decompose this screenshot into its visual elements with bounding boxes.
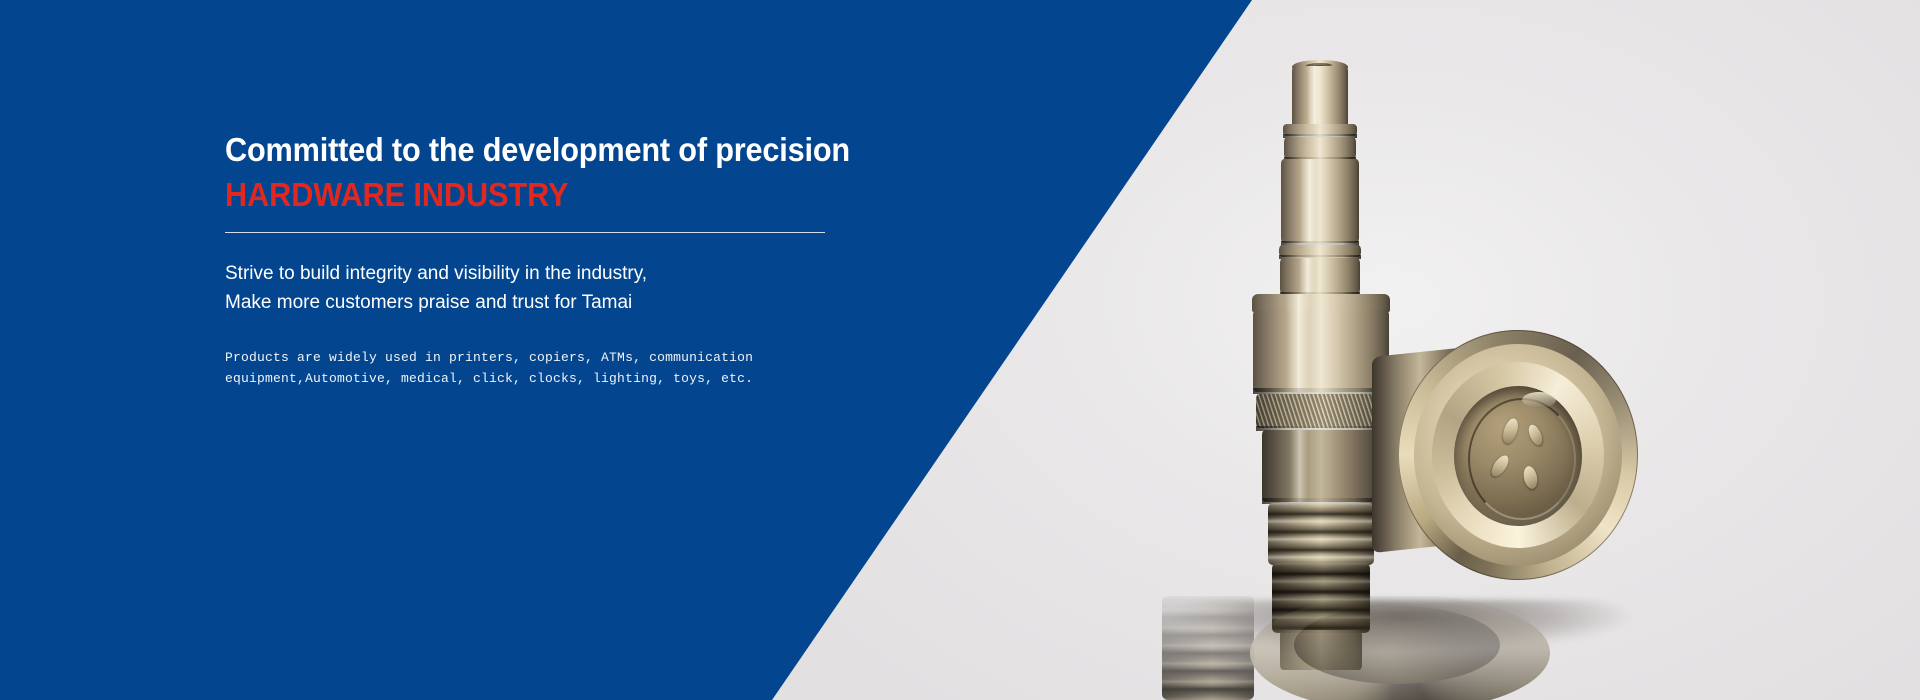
hero-banner: Committed to the development of precisio… [0,0,1920,700]
headline-primary: Committed to the development of precisio… [225,128,969,172]
hero-copy-block: Committed to the development of precisio… [225,128,1025,389]
headline-divider [225,232,825,233]
subtitle-line-1: Strive to build integrity and visibility… [225,259,1025,288]
product-reflection [1080,596,1720,700]
application-note-line-2: equipment,Automotive, medical, click, cl… [225,368,1025,389]
subtitle-line-2: Make more customers praise and trust for… [225,288,1025,317]
subtitle-block: Strive to build integrity and visibility… [225,259,1025,317]
application-note-line-1: Products are widely used in printers, co… [225,347,1025,368]
headline-accent: HARDWARE INDUSTRY [225,172,969,218]
application-note-block: Products are widely used in printers, co… [225,347,1025,389]
